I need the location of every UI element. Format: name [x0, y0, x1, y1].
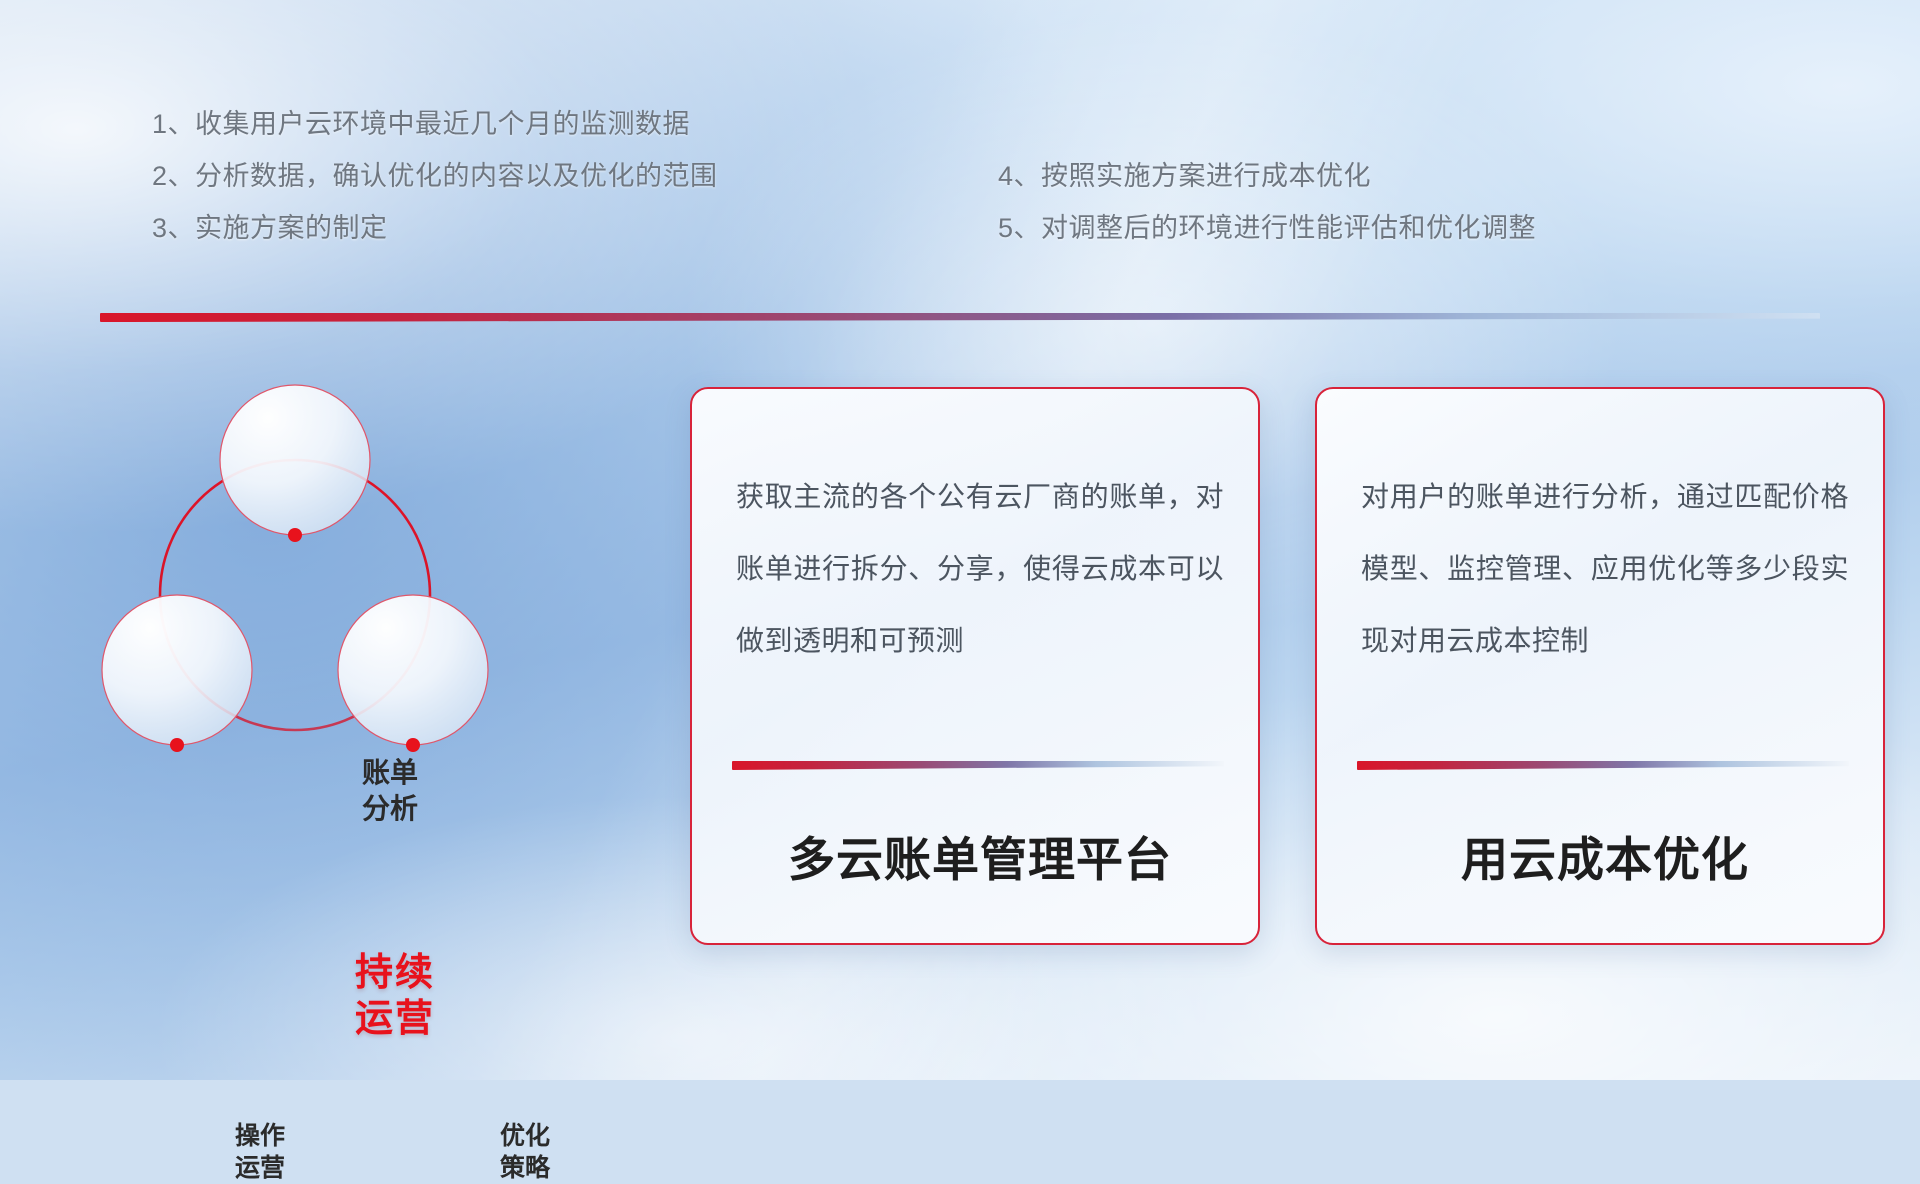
venn-svg [95, 350, 615, 940]
step-item-4: 4、按照实施方案进行成本优化 [998, 150, 1536, 202]
card-body-text: 对用户的账单进行分析，通过匹配价格模型、监控管理、应用优化等多少段实现对用云成本… [1361, 461, 1849, 677]
step-item-1: 1、收集用户云环境中最近几个月的监测数据 [152, 98, 718, 150]
venn-bubble-optimization-strategy[interactable] [338, 595, 488, 745]
venn-node-dot-top [288, 528, 302, 542]
steps-left-column: 1、收集用户云环境中最近几个月的监测数据 2、分析数据，确认优化的内容以及优化的… [152, 98, 718, 254]
venn-label-optimization-strategy: 优化 策略 [430, 1120, 620, 1184]
venn-label-bill-analysis: 账单 分析 [295, 755, 485, 827]
card-title: 多云账单管理平台 [732, 821, 1228, 890]
steps-section: 1、收集用户云环境中最近几个月的监测数据 2、分析数据，确认优化的内容以及优化的… [0, 0, 1920, 300]
venn-node-dot-right [406, 738, 420, 752]
step-item-5: 5、对调整后的环境进行性能评估和优化调整 [998, 202, 1536, 254]
venn-bubble-bill-analysis[interactable] [220, 385, 370, 535]
info-card-cloud-cost-optimization[interactable]: 对用户的账单进行分析，通过匹配价格模型、监控管理、应用优化等多少段实现对用云成本… [1315, 387, 1885, 945]
venn-diagram: 账单 分析 操作 运营 优化 策略 持续 运营 [95, 350, 615, 940]
info-card-multi-cloud-billing-platform[interactable]: 获取主流的各个公有云厂商的账单，对账单进行拆分、分享，使得云成本可以做到透明和可… [690, 387, 1260, 945]
step-item-3: 3、实施方案的制定 [152, 202, 718, 254]
section-divider [100, 313, 1820, 322]
steps-right-column: 4、按照实施方案进行成本优化 5、对调整后的环境进行性能评估和优化调整 [998, 150, 1536, 254]
card-title: 用云成本优化 [1357, 821, 1853, 890]
divider-gradient-bar [100, 313, 1820, 322]
step-item-2: 2、分析数据，确认优化的内容以及优化的范围 [152, 150, 718, 202]
card-body-text: 获取主流的各个公有云厂商的账单，对账单进行拆分、分享，使得云成本可以做到透明和可… [736, 461, 1224, 677]
venn-center-label: 持续 运营 [305, 950, 485, 1043]
venn-bubble-operation[interactable] [102, 595, 252, 745]
card-accent-rule [1357, 761, 1849, 770]
venn-node-dot-left [170, 738, 184, 752]
venn-label-operation: 操作 运营 [165, 1120, 355, 1184]
card-accent-rule [732, 761, 1224, 770]
